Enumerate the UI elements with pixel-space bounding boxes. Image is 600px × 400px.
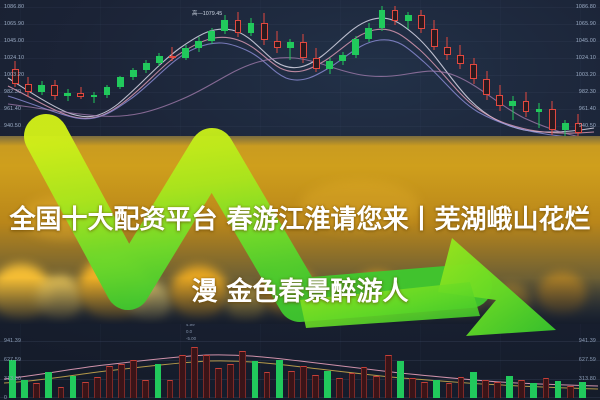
price-tick-right-4: 1003.20 — [576, 72, 596, 78]
candle — [169, 0, 176, 150]
volume-bar — [179, 355, 186, 398]
volume-bar — [288, 371, 295, 398]
price-tick-left-4: 1003.20 — [4, 72, 24, 78]
volume-bar — [106, 366, 113, 398]
price-tick-right-1: 1065.90 — [576, 21, 596, 27]
price-tick-right-7: 940.50 — [579, 123, 596, 129]
volume-bar — [94, 377, 101, 398]
price-tick-left-0: 1086.80 — [4, 4, 24, 10]
volume-bar — [118, 364, 125, 399]
candle — [287, 0, 294, 150]
candle — [104, 0, 111, 150]
volume-bar — [239, 351, 246, 398]
candle — [313, 0, 320, 150]
volume-bar — [385, 355, 392, 398]
volume-bar — [579, 382, 586, 398]
headline-line-2: 漫 金色春景醉游人 — [8, 274, 592, 310]
candle — [208, 0, 215, 150]
volume-bar — [482, 380, 489, 398]
candle — [457, 0, 464, 150]
volume-bar — [21, 380, 28, 398]
volume-bar — [506, 376, 513, 398]
candle — [143, 0, 150, 150]
candle — [536, 0, 543, 150]
volume-bar — [312, 375, 319, 398]
candle — [365, 0, 372, 150]
volume-bar — [264, 372, 271, 398]
volume-bar — [433, 380, 440, 398]
volume-bar — [70, 376, 77, 398]
volume-tick-right-1: 627.59 — [579, 357, 596, 363]
volume-bar — [470, 372, 477, 398]
volume-bar — [82, 382, 89, 398]
candle — [431, 0, 438, 150]
volume-bar — [58, 387, 65, 398]
volume-tick-left-3: 0 — [4, 395, 7, 400]
candle — [261, 0, 268, 150]
volume-bar — [167, 380, 174, 398]
volume-bar — [142, 380, 149, 398]
candle — [523, 0, 530, 150]
candle — [117, 0, 124, 150]
candle — [379, 0, 386, 150]
candle — [25, 0, 32, 150]
candle — [51, 0, 58, 150]
volume-bar — [397, 361, 404, 398]
candle — [221, 0, 228, 150]
volume-bar — [458, 377, 465, 398]
candle — [64, 0, 71, 150]
candle — [248, 0, 255, 150]
price-tick-right-3: 1024.10 — [576, 55, 596, 61]
candle — [470, 0, 477, 150]
candle — [392, 0, 399, 150]
high-price-marker: 高—1079.45 — [192, 9, 222, 17]
volume-tick-left-2: 313.80 — [4, 376, 21, 382]
volume-bar — [543, 378, 550, 398]
candle — [444, 0, 451, 150]
volume-bar — [373, 376, 380, 398]
candle — [483, 0, 490, 150]
volume-bar — [324, 371, 331, 398]
price-tick-right-5: 982.30 — [579, 89, 596, 95]
candle — [352, 0, 359, 150]
candle — [38, 0, 45, 150]
candle — [274, 0, 281, 150]
candle — [91, 0, 98, 150]
candle — [509, 0, 516, 150]
volume-bar — [518, 380, 525, 398]
volume-bar — [33, 383, 40, 398]
headline-line-1: 全国十大配资平台 春游江淮请您来丨芜湖峨山花烂 — [8, 202, 592, 238]
price-tick-left-5: 982.30 — [4, 89, 21, 95]
price-tick-left-7: 940.50 — [4, 123, 21, 129]
candle — [418, 0, 425, 150]
candle — [405, 0, 412, 150]
volume-bar — [155, 364, 162, 399]
price-tick-right-6: 961.40 — [579, 106, 596, 112]
candle — [235, 0, 242, 150]
volume-tick-left-1: 627.59 — [4, 357, 21, 363]
volume-bar — [130, 360, 137, 398]
candle — [77, 0, 84, 150]
volume-bar — [361, 367, 368, 398]
candle — [130, 0, 137, 150]
candle — [182, 0, 189, 150]
price-tick-left-3: 1024.10 — [4, 55, 24, 61]
volume-bar — [45, 372, 52, 398]
price-tick-right-2: 1045.00 — [576, 38, 596, 44]
price-tick-right-0: 1086.80 — [576, 4, 596, 10]
volume-bar — [349, 373, 356, 398]
volume-bar — [203, 355, 210, 398]
volume-bar — [336, 378, 343, 398]
price-candlestick-chart — [0, 0, 600, 150]
candle — [549, 0, 556, 150]
volume-bar — [252, 361, 259, 398]
banner-image: 高—1079.45 912.26—→ 1086.801065.901045.00… — [0, 0, 600, 400]
volume-bar — [276, 360, 283, 398]
volume-bar — [191, 347, 198, 398]
volume-bar — [446, 383, 453, 398]
price-tick-left-2: 1045.00 — [4, 38, 24, 44]
volume-bar — [409, 378, 416, 398]
candle — [300, 0, 307, 150]
volume-bar — [555, 381, 562, 398]
candle — [562, 0, 569, 150]
price-tick-left-6: 961.40 — [4, 106, 21, 112]
candle — [496, 0, 503, 150]
candle — [195, 0, 202, 150]
volume-tick-right-2: 313.80 — [579, 376, 596, 382]
candle — [156, 0, 163, 150]
volume-bar — [494, 382, 501, 398]
price-tick-left-1: 1065.90 — [4, 21, 24, 27]
volume-bar — [421, 382, 428, 398]
page-title: 全国十大配资平台 春游江淮请您来丨芜湖峨山花烂 漫 金色春景醉游人 — [0, 166, 600, 346]
volume-bar — [227, 364, 234, 399]
volume-bar — [567, 386, 574, 398]
volume-bar — [530, 383, 537, 398]
candle — [339, 0, 346, 150]
volume-bar — [300, 366, 307, 398]
candle — [326, 0, 333, 150]
volume-bar — [215, 368, 222, 398]
